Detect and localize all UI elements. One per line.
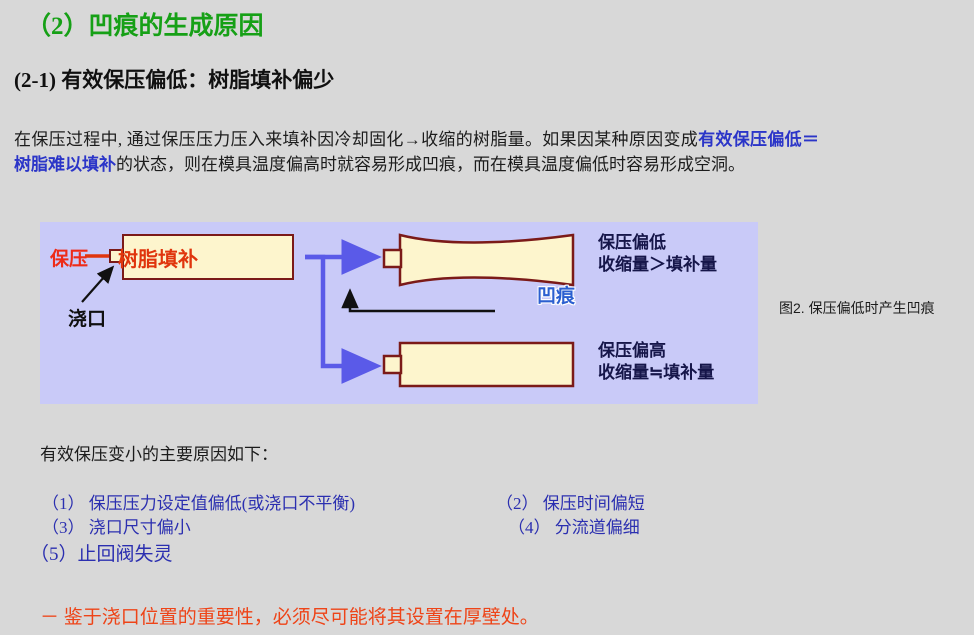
reason-item-5: （5）止回阀失灵	[30, 539, 173, 566]
part-normal-shape	[400, 343, 573, 386]
reason-item-2: （2） 保压时间偏短	[496, 489, 645, 514]
reason-item-3: （3） 浇口尺寸偏小	[42, 513, 191, 538]
gate-pointer-arrow-icon	[82, 268, 112, 302]
gate-label: 浇口	[68, 304, 106, 331]
reasons-heading: 有效保压变小的主要原因如下：	[40, 440, 278, 465]
reason-item-1: （1） 保压压力设定值偏低(或浇口不平衡)	[42, 489, 355, 514]
sink-mark-callout: 凹痕	[537, 281, 575, 308]
bottom-case-line-1: 保压偏高	[598, 340, 714, 362]
paragraph-part-2: 的状态，则在模具温度偏高时就容易形成凹痕，而在模具温度偏低时容易形成空洞。	[116, 155, 745, 174]
top-case-caption: 保压偏低 收缩量＞填补量	[598, 232, 717, 276]
slide-root: （2）凹痕的生成原因 (2-1) 有效保压偏低：树脂填补偏少 在保压过程中, 通…	[0, 0, 974, 635]
top-case-line-1: 保压偏低	[598, 232, 717, 254]
resin-refill-label: 树脂填补	[118, 243, 198, 272]
sink-mark-leader-icon	[350, 292, 495, 311]
reason-item-4: （4） 分流道偏细	[508, 513, 640, 538]
top-case-line-2: 收缩量＞填补量	[598, 254, 717, 276]
holding-pressure-label: 保压	[50, 244, 88, 271]
gate-tab-bottom-shape	[384, 356, 401, 373]
bottom-note: － 鉴于浇口位置的重要性，必须尽可能将其设置在厚壁处。	[40, 602, 539, 629]
paragraph-part-1: 在保压过程中, 通过保压压力压入来填补因冷却固化→收缩的树脂量。如果因某种原因变…	[14, 130, 698, 149]
bottom-case-caption: 保压偏高 收缩量≒填补量	[598, 340, 714, 384]
section-subtitle: (2-1) 有效保压偏低：树脂填补偏少	[14, 64, 334, 94]
body-paragraph: 在保压过程中, 通过保压压力压入来填补因冷却固化→收缩的树脂量。如果因某种原因变…	[14, 127, 819, 177]
page-title: （2）凹痕的生成原因	[26, 6, 264, 42]
figure-caption: 图2. 保压偏低时产生凹痕	[779, 298, 935, 318]
bottom-case-line-2: 收缩量≒填补量	[598, 362, 714, 384]
part-with-sink-mark-shape	[400, 235, 573, 285]
gate-tab-top-shape	[384, 250, 401, 267]
figure-panel: 树脂填补 保压 浇口 保压偏低 收缩量＞填补量 保压偏高 收缩量≒填补量 凹痕	[40, 222, 758, 404]
